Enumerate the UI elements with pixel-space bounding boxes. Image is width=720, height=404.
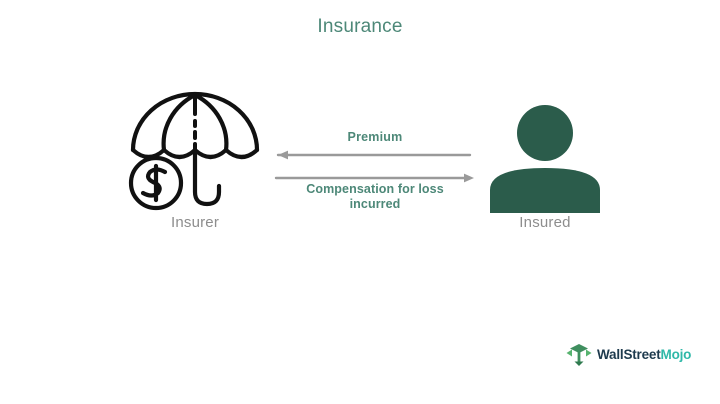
insurer-label: Insurer (120, 214, 270, 231)
umbrella-with-dollar-coin-icon (120, 88, 270, 216)
brand-name-accent: Mojo (661, 347, 692, 362)
compensation-flow-label-line2: incurred (270, 197, 480, 212)
insured-label: Insured (470, 214, 620, 231)
person-silhouette-icon (470, 100, 620, 215)
flow-group: Premium Compensation for loss incurred (270, 130, 480, 230)
page-title: Insurance (0, 16, 720, 38)
insurer-node: Insurer (120, 88, 270, 248)
brand-wordmark: WallStreetMojo (597, 347, 691, 362)
graduation-cap-logo-icon (566, 341, 592, 367)
arrow-left-icon (278, 151, 470, 160)
compensation-flow-label-line1: Compensation for loss (270, 182, 480, 197)
premium-flow-label: Premium (270, 130, 480, 144)
brand-logo: WallStreetMojo (566, 341, 691, 367)
brand-name-primary: WallStreet (597, 347, 661, 362)
flow-arrows (270, 148, 480, 186)
compensation-flow-label: Compensation for loss incurred (270, 182, 480, 212)
insured-node: Insured (470, 100, 620, 250)
insurance-diagram-canvas: Insurance (0, 0, 720, 404)
